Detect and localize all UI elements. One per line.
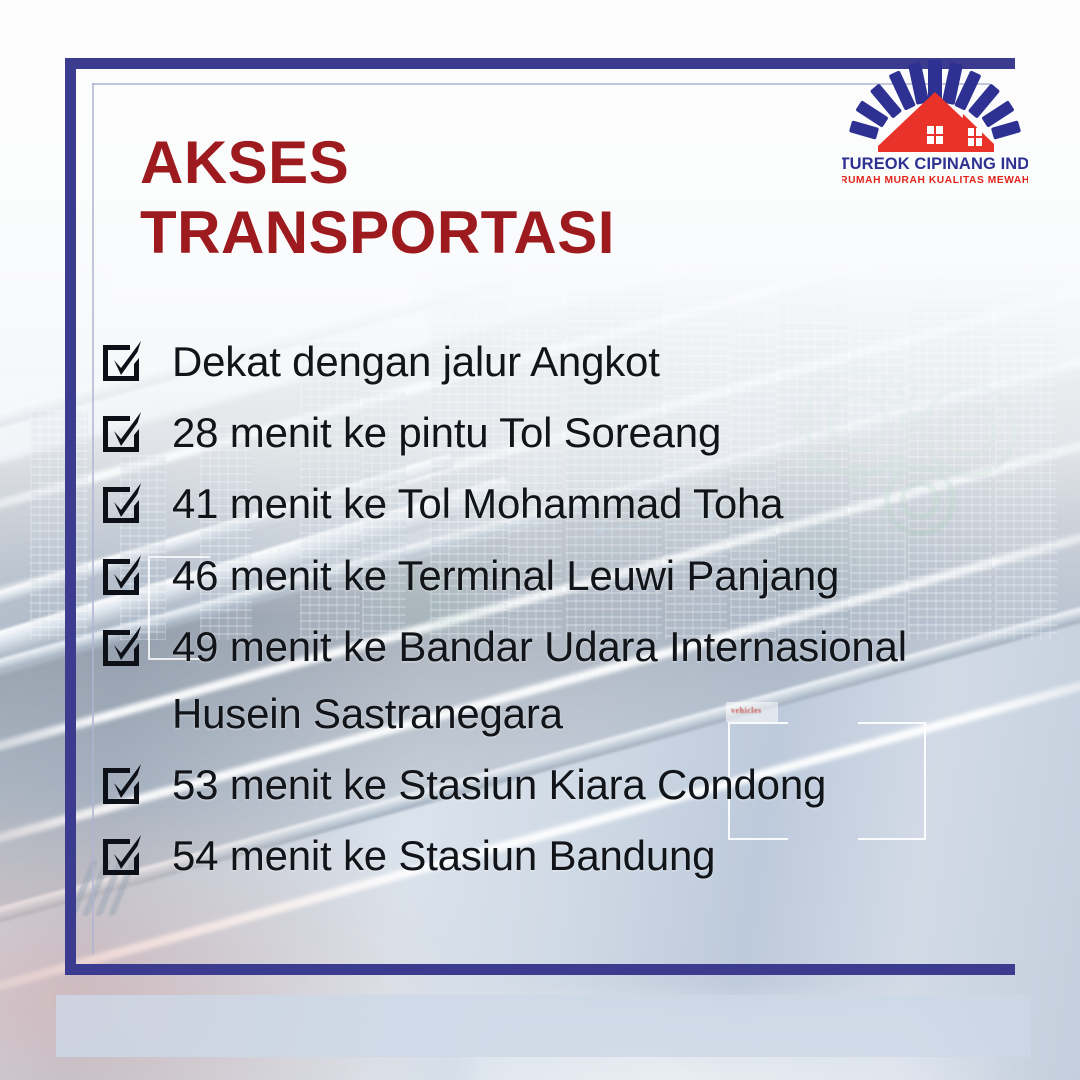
bottom-caption-bar — [56, 995, 1031, 1057]
list-item: 28 menit ke pintu Tol Soreang — [100, 399, 1040, 466]
list-item: 54 menit ke Stasiun Bandung — [100, 822, 1040, 889]
list-item-label: 46 menit ke Terminal Leuwi Panjang — [172, 542, 839, 609]
title-line-2: TRANSPORTASI — [140, 198, 740, 268]
list-item-label: 28 menit ke pintu Tol Soreang — [172, 399, 721, 466]
decorative-frame-bottom — [65, 964, 1015, 975]
logo-tagline: RUMAH MURAH KUALITAS MEWAH — [842, 175, 1028, 186]
list-item: Dekat dengan jalur Angkot — [100, 328, 1040, 395]
poster-canvas: vehicles ltd journal vehicles — [0, 0, 1080, 1080]
list-item: 41 menit ke Tol Mohammad Toha — [100, 470, 1040, 537]
company-logo: BATUREOK CIPINANG INDAH RUMAH MURAH KUAL… — [842, 52, 1028, 190]
list-item: 49 menit ke Bandar Udara Internasional H… — [100, 613, 1040, 747]
decorative-frame-inner-left — [92, 83, 94, 955]
logo-name: BATUREOK CIPINANG INDAH — [842, 155, 1028, 173]
list-item-label: 54 menit ke Stasiun Bandung — [172, 822, 715, 889]
checklist: Dekat dengan jalur Angkot 28 menit ke pi… — [100, 328, 1040, 894]
list-item-label: 49 menit ke Bandar Udara Internasional H… — [172, 613, 1032, 747]
list-item-label: Dekat dengan jalur Angkot — [172, 328, 660, 395]
ballot-box-with-check-icon — [100, 759, 144, 805]
list-item: 46 menit ke Terminal Leuwi Panjang — [100, 542, 1040, 609]
page-title: AKSES TRANSPORTASI — [140, 128, 740, 268]
ballot-box-with-check-icon — [100, 407, 144, 453]
title-line-1: AKSES — [140, 128, 740, 198]
ballot-box-with-check-icon — [100, 621, 144, 667]
list-item-label: 53 menit ke Stasiun Kiara Condong — [172, 751, 826, 818]
ballot-box-with-check-icon — [100, 478, 144, 524]
ballot-box-with-check-icon — [100, 550, 144, 596]
list-item-label: 41 menit ke Tol Mohammad Toha — [172, 470, 783, 537]
ballot-box-with-check-icon — [100, 336, 144, 382]
list-item: 53 menit ke Stasiun Kiara Condong — [100, 751, 1040, 818]
ballot-box-with-check-icon — [100, 830, 144, 876]
